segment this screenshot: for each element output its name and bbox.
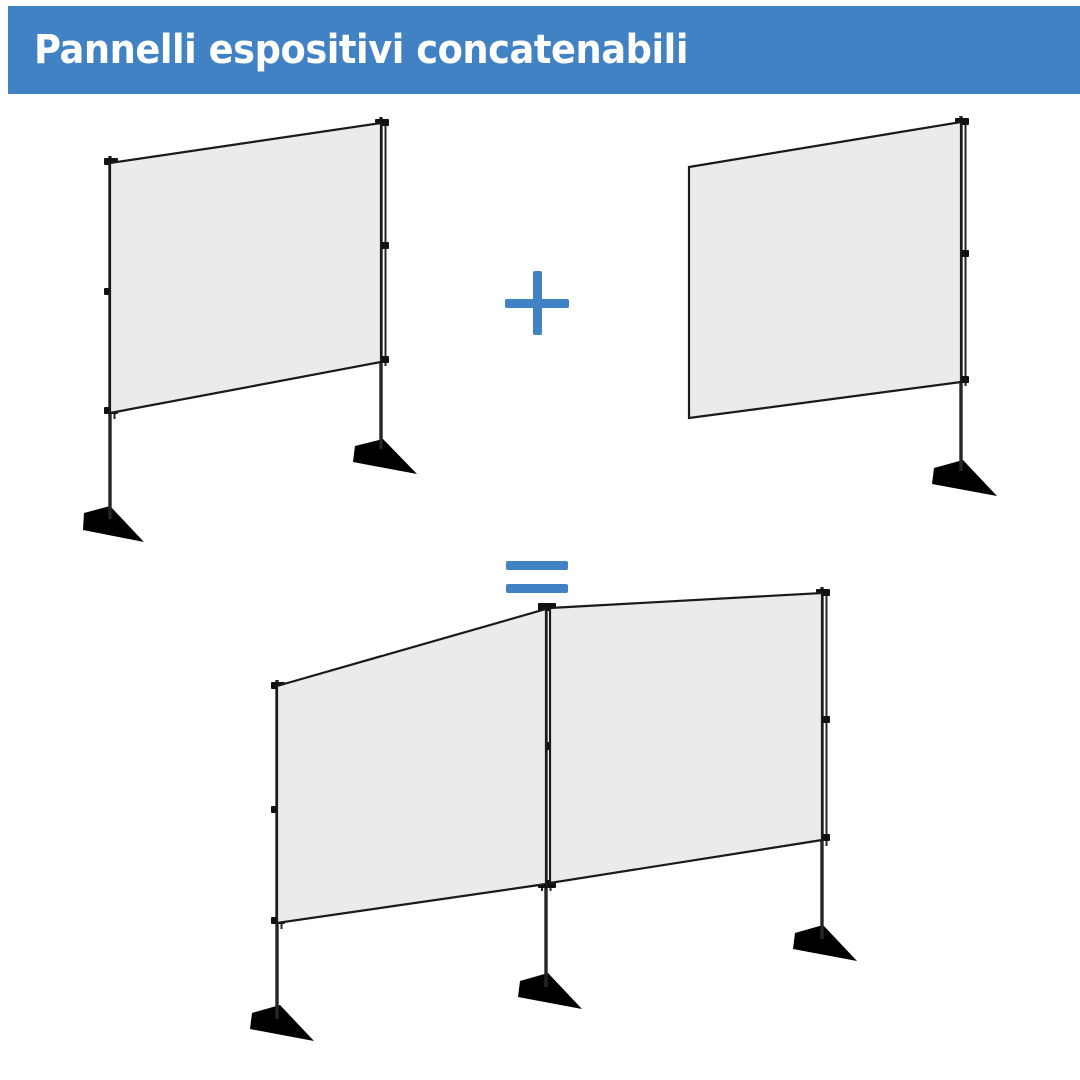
foot-center-3 <box>518 973 582 1009</box>
equals-top-bar <box>506 561 568 570</box>
foot-right-1 <box>353 439 417 474</box>
panel-sheet-right-2[interactable] <box>689 122 961 418</box>
plus-operator-icon <box>505 271 569 335</box>
equals-operator-icon <box>506 561 568 593</box>
panel-sheet-combined-right[interactable] <box>550 593 822 883</box>
equals-bottom-bar <box>506 584 568 593</box>
panel-sheet-combined-left[interactable] <box>277 609 546 923</box>
panel-group-combined[interactable] <box>250 587 857 1041</box>
page-title: Pannelli espositivi concatenabili <box>34 30 688 70</box>
panel-sheet-left-1[interactable] <box>110 123 381 413</box>
panel-group-right-addon[interactable] <box>689 116 997 496</box>
foot-right-3 <box>793 925 857 961</box>
foot-left-1 <box>83 506 144 542</box>
panel-group-left-single[interactable] <box>83 117 417 542</box>
foot-right-2 <box>932 460 997 496</box>
page-root: Pannelli espositivi concatenabili .pnl {… <box>0 0 1080 1080</box>
plus-vertical-bar <box>533 271 542 335</box>
foot-left-3 <box>250 1005 314 1041</box>
header-banner: Pannelli espositivi concatenabili <box>8 6 1080 94</box>
